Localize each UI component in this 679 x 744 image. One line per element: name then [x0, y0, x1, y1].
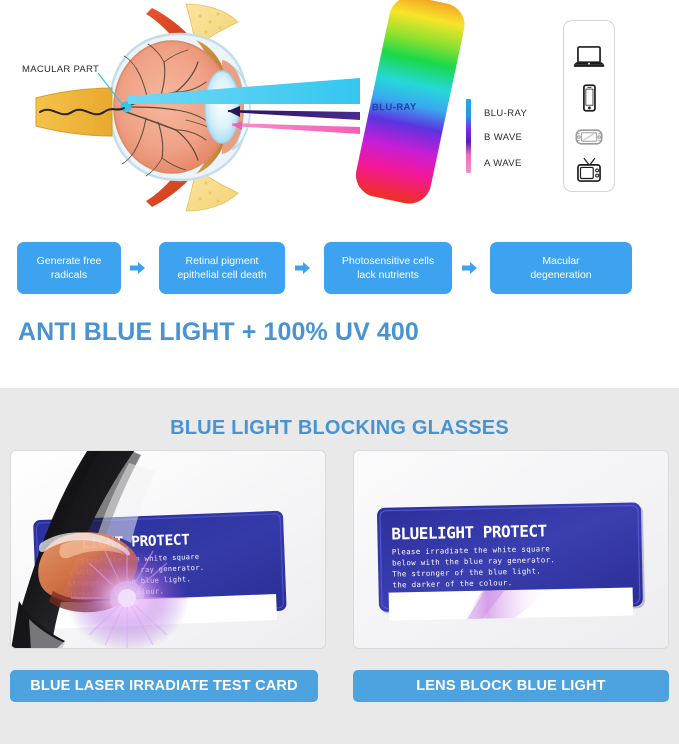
legend-item-a-wave: A WAVE [484, 158, 522, 169]
flow-arrow-icon [130, 261, 145, 275]
flow-step-line: Photosensitive cells [342, 255, 434, 267]
flow-step-line: radicals [51, 269, 87, 281]
sunglasses-on-card-photo: BLUELIGHT PROTECT Please irradiate the w… [11, 451, 326, 649]
test-card-photo: BLUELIGHT PROTECT Please irradiate the w… [354, 451, 669, 649]
flow-step-retinal-pigment-epithelial-cell-death: Retinal pigment epithelial cell death [159, 242, 285, 294]
legend-item-b-wave: B WAVE [484, 132, 522, 143]
flow-step-line: Macular [542, 255, 579, 267]
flow-step-line: epithelial cell death [177, 269, 266, 281]
section-title: BLUE LIGHT BLOCKING GLASSES [0, 417, 679, 440]
blue-light-devices-panel [563, 20, 615, 192]
flow-arrow-icon [462, 261, 477, 275]
laser-flare [65, 544, 189, 649]
lens [205, 71, 239, 143]
flow-step-line: Generate free [37, 255, 102, 267]
flow-step-line: lack nutrients [357, 269, 419, 281]
wave-legend: BLU-RAY B WAVE A WAVE [466, 99, 556, 175]
smartphone-icon [572, 83, 606, 113]
flow-arrow-icon [295, 261, 310, 275]
top-white-section: MACULAR PART BL [0, 0, 679, 388]
flow-step-photosensitive-cells-lack-nutrients: Photosensitive cells lack nutrients [324, 242, 452, 294]
damage-flow-chart: Generate free radicals Retinal pigment e… [0, 242, 679, 302]
headline-anti-blue-light: ANTI BLUE LIGHT + 100% UV 400 [18, 318, 419, 347]
handheld-console-icon [572, 122, 606, 152]
eye-anatomy-diagram [0, 0, 360, 215]
flow-step-line: Retinal pigment [186, 255, 259, 267]
flow-step-macular-degeneration: Macular degeneration [490, 242, 632, 294]
legend-gradient-bar [466, 99, 471, 173]
photo-blue-laser-test: BLUELIGHT PROTECT Please irradiate the w… [10, 450, 326, 649]
blu-ray-spectrum-label: BLU-RAY [372, 102, 417, 114]
bluelight-test-card: BLUELIGHT PROTECT Please irradiate the w… [377, 502, 645, 621]
bottom-gray-section: BLUE LIGHT BLOCKING GLASSES [0, 388, 679, 744]
photo-lens-block: BLUELIGHT PROTECT Please irradiate the w… [353, 450, 669, 649]
legend-item-blu-ray: BLU-RAY [484, 108, 527, 119]
macular-part-label: MACULAR PART [22, 64, 99, 75]
caption-blue-laser-irradiate-test-card: BLUE LASER IRRADIATE TEST CARD [10, 670, 318, 702]
product-infographic: MACULAR PART BL [0, 0, 679, 744]
flow-step-generate-free-radicals: Generate free radicals [17, 242, 121, 294]
flow-step-line: degeneration [530, 269, 591, 281]
caption-lens-block-blue-light: LENS BLOCK BLUE LIGHT [353, 670, 669, 702]
laptop-icon [572, 43, 606, 73]
card-title-text: BLUELIGHT PROTECT [391, 521, 547, 543]
television-icon [572, 155, 606, 185]
optic-nerve [36, 88, 112, 136]
